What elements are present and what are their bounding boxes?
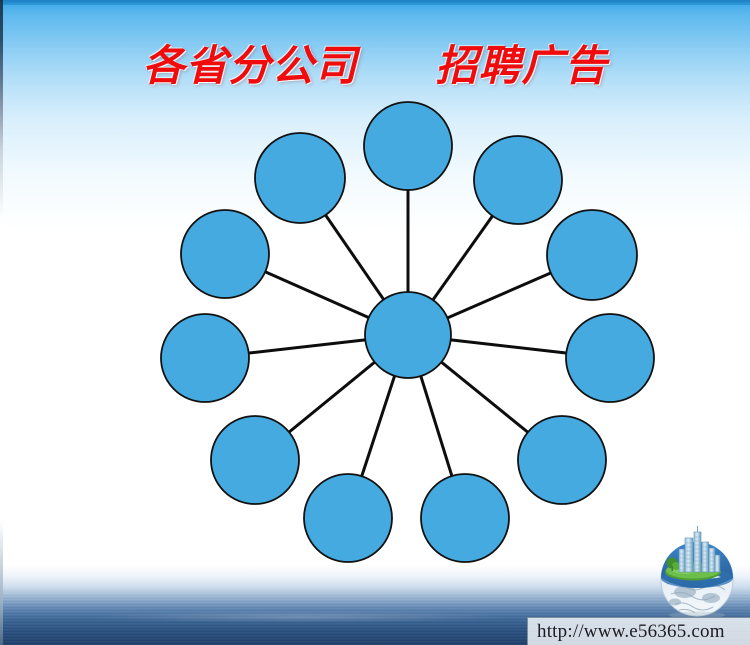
slide-canvas: 各省分公司 招聘广告 xyxy=(0,0,750,645)
page-title: 各省分公司 招聘广告 xyxy=(0,32,750,93)
satellite-node-7[interactable] xyxy=(566,314,654,402)
left-edge-border xyxy=(0,0,3,645)
satellite-node-4[interactable] xyxy=(181,210,269,298)
satellite-node-3[interactable] xyxy=(474,136,562,224)
satellite-node-10[interactable] xyxy=(304,474,392,562)
satellite-node-1[interactable] xyxy=(364,102,452,190)
page-title-text: 各省分公司 招聘广告 xyxy=(142,32,607,93)
satellite-node-11[interactable] xyxy=(421,474,509,562)
spoke-line-10 xyxy=(361,374,395,478)
watermark-url-text: http://www.e56365.com xyxy=(528,621,725,643)
spoke-line-7 xyxy=(449,340,569,354)
satellite-node-9[interactable] xyxy=(518,416,606,504)
diagram-svg xyxy=(0,0,750,645)
spoke-line-2 xyxy=(324,213,384,301)
satellite-node-5[interactable] xyxy=(547,210,637,300)
spoke-line-8 xyxy=(288,361,377,434)
spoke-line-6 xyxy=(247,340,368,354)
nodes-group xyxy=(161,102,654,562)
globe-city-logo xyxy=(645,522,749,618)
spoke-line-11 xyxy=(420,374,452,478)
spoke-line-3 xyxy=(432,214,494,301)
spoke-line-9 xyxy=(440,361,530,434)
watermark-url-box: http://www.e56365.com xyxy=(527,617,750,645)
hub-and-spoke-diagram xyxy=(0,0,750,645)
spoke-line-4 xyxy=(263,271,370,318)
globe-city-logo-icon xyxy=(645,522,749,618)
satellite-node-2[interactable] xyxy=(255,133,345,223)
spoke-line-5 xyxy=(446,272,553,319)
hub-node[interactable] xyxy=(365,292,451,378)
satellite-node-6[interactable] xyxy=(161,314,249,402)
satellite-node-8[interactable] xyxy=(211,416,299,504)
